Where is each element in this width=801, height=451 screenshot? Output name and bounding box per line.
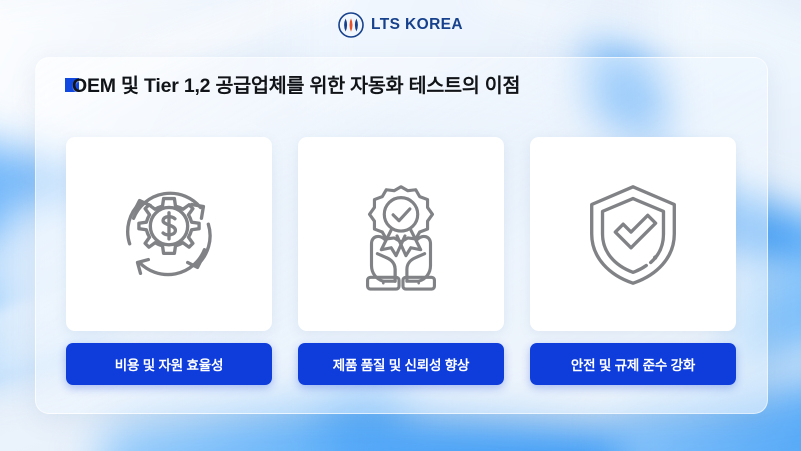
benefit-card-safety-compliance: 안전 및 규제 준수 강화 (530, 137, 736, 385)
icon-card (298, 137, 504, 331)
lts-wave-emblem-icon (338, 12, 364, 38)
slide-title-row: OEM 및 Tier 1,2 공급업체를 위한 자동화 테스트의 이점 (65, 74, 520, 99)
benefit-button-product-quality[interactable]: 제품 품질 및 신뢰성 향상 (298, 343, 504, 385)
shield-check-icon (574, 175, 692, 293)
icon-card (530, 137, 736, 331)
icon-card (66, 137, 272, 331)
benefit-card-cost-efficiency: 비용 및 자원 효율성 (66, 137, 272, 385)
benefit-button-safety-compliance[interactable]: 안전 및 규제 준수 강화 (530, 343, 736, 385)
hands-holding-quality-badge-icon (342, 175, 460, 293)
brand-name: LTS KOREA (371, 16, 463, 34)
brand-logo-bar: LTS KOREA (0, 12, 801, 38)
page-title: OEM 및 Tier 1,2 공급업체를 위한 자동화 테스트의 이점 (72, 74, 520, 99)
benefit-button-cost-efficiency[interactable]: 비용 및 자원 효율성 (66, 343, 272, 385)
benefit-card-product-quality: 제품 품질 및 신뢰성 향상 (298, 137, 504, 385)
benefit-cards: 비용 및 자원 효율성 (66, 137, 736, 385)
gear-dollar-cycle-icon (110, 175, 228, 293)
